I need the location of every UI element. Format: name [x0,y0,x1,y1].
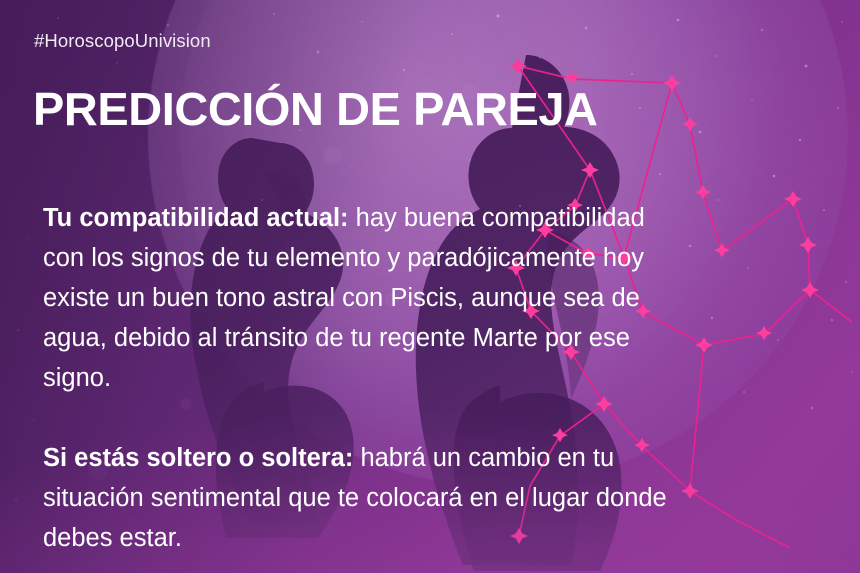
horoscope-card: #HoroscopoUnivision PREDICCIÓN DE PAREJA… [0,0,860,573]
paragraph-compatibility: Tu compatibilidad actual: hay buena comp… [43,198,683,398]
paragraph-single-lead: Si estás soltero o soltera: [43,444,353,472]
card-content: #HoroscopoUnivision PREDICCIÓN DE PAREJA… [0,0,860,573]
paragraph-compatibility-lead: Tu compatibilidad actual: [43,204,349,232]
paragraph-single: Si estás soltero o soltera: habrá un cam… [43,438,683,558]
prediction-body: Tu compatibilidad actual: hay buena comp… [43,198,683,558]
page-title: PREDICCIÓN DE PAREJA [33,86,598,132]
paragraph-compatibility-text: hay buena compatibilidad con los signos … [43,204,645,392]
hashtag-label: #HoroscopoUnivision [34,30,211,52]
